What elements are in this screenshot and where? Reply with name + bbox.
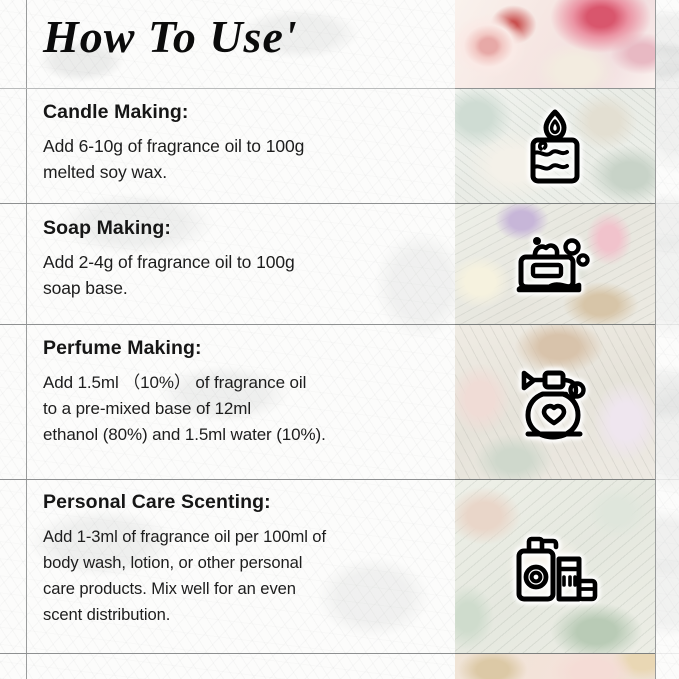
soap-bar-icon [511,227,599,301]
perfume-bottle-icon [509,360,601,444]
illustration-column [455,0,655,679]
decorative-rose-image [455,0,655,88]
candle-icon-cell [455,89,655,203]
body-line: care products. Mix well for an even [43,576,455,602]
section-title: Candle Making: [43,101,455,124]
body-line: Add 1-3ml of fragrance oil per 100ml of [43,524,455,550]
section-body: Add 2-4g of fragrance oil to 100g soap b… [43,249,455,301]
decorative-bottom-image [455,654,655,679]
section-personal-care-scenting: Personal Care Scenting: Add 1-3ml of fra… [26,491,455,628]
personal-care-icon-cell [455,480,655,653]
right-margin-texture [655,0,679,679]
body-line: Add 2-4g of fragrance oil to 100g [43,249,455,275]
section-title: Perfume Making: [43,337,455,360]
section-candle-making: Candle Making: Add 6-10g of fragrance oi… [26,101,455,185]
body-line: scent distribution. [43,602,455,628]
section-title: Personal Care Scenting: [43,491,455,514]
body-line: Add 1.5ml （10%） of fragrance oil [43,370,455,396]
section-body: Add 1.5ml （10%） of fragrance oil to a pr… [43,370,455,448]
right-margin-rule [655,0,656,679]
candle-icon [518,107,592,185]
body-line: Add 6-10g of fragrance oil to 100g [43,133,455,159]
personal-care-products-icon [509,525,601,609]
how-to-use-infographic: How To Use' Candle Making: Add 6-10g of … [0,0,679,679]
body-line: body wash, lotion, or other personal [43,550,455,576]
body-line: soap base. [43,275,455,301]
section-body: Add 6-10g of fragrance oil to 100g melte… [43,133,455,185]
perfume-icon-cell [455,325,655,479]
section-body: Add 1-3ml of fragrance oil per 100ml of … [43,524,455,628]
section-perfume-making: Perfume Making: Add 1.5ml （10%） of fragr… [26,337,455,448]
soap-icon-cell [455,204,655,324]
body-line: ethanol (80%) and 1.5ml water (10%). [43,422,455,448]
section-title: Soap Making: [43,217,455,240]
sections-column: Candle Making: Add 6-10g of fragrance oi… [26,0,455,679]
body-line: to a pre-mixed base of 12ml [43,396,455,422]
section-soap-making: Soap Making: Add 2-4g of fragrance oil t… [26,217,455,301]
body-line: melted soy wax. [43,159,455,185]
